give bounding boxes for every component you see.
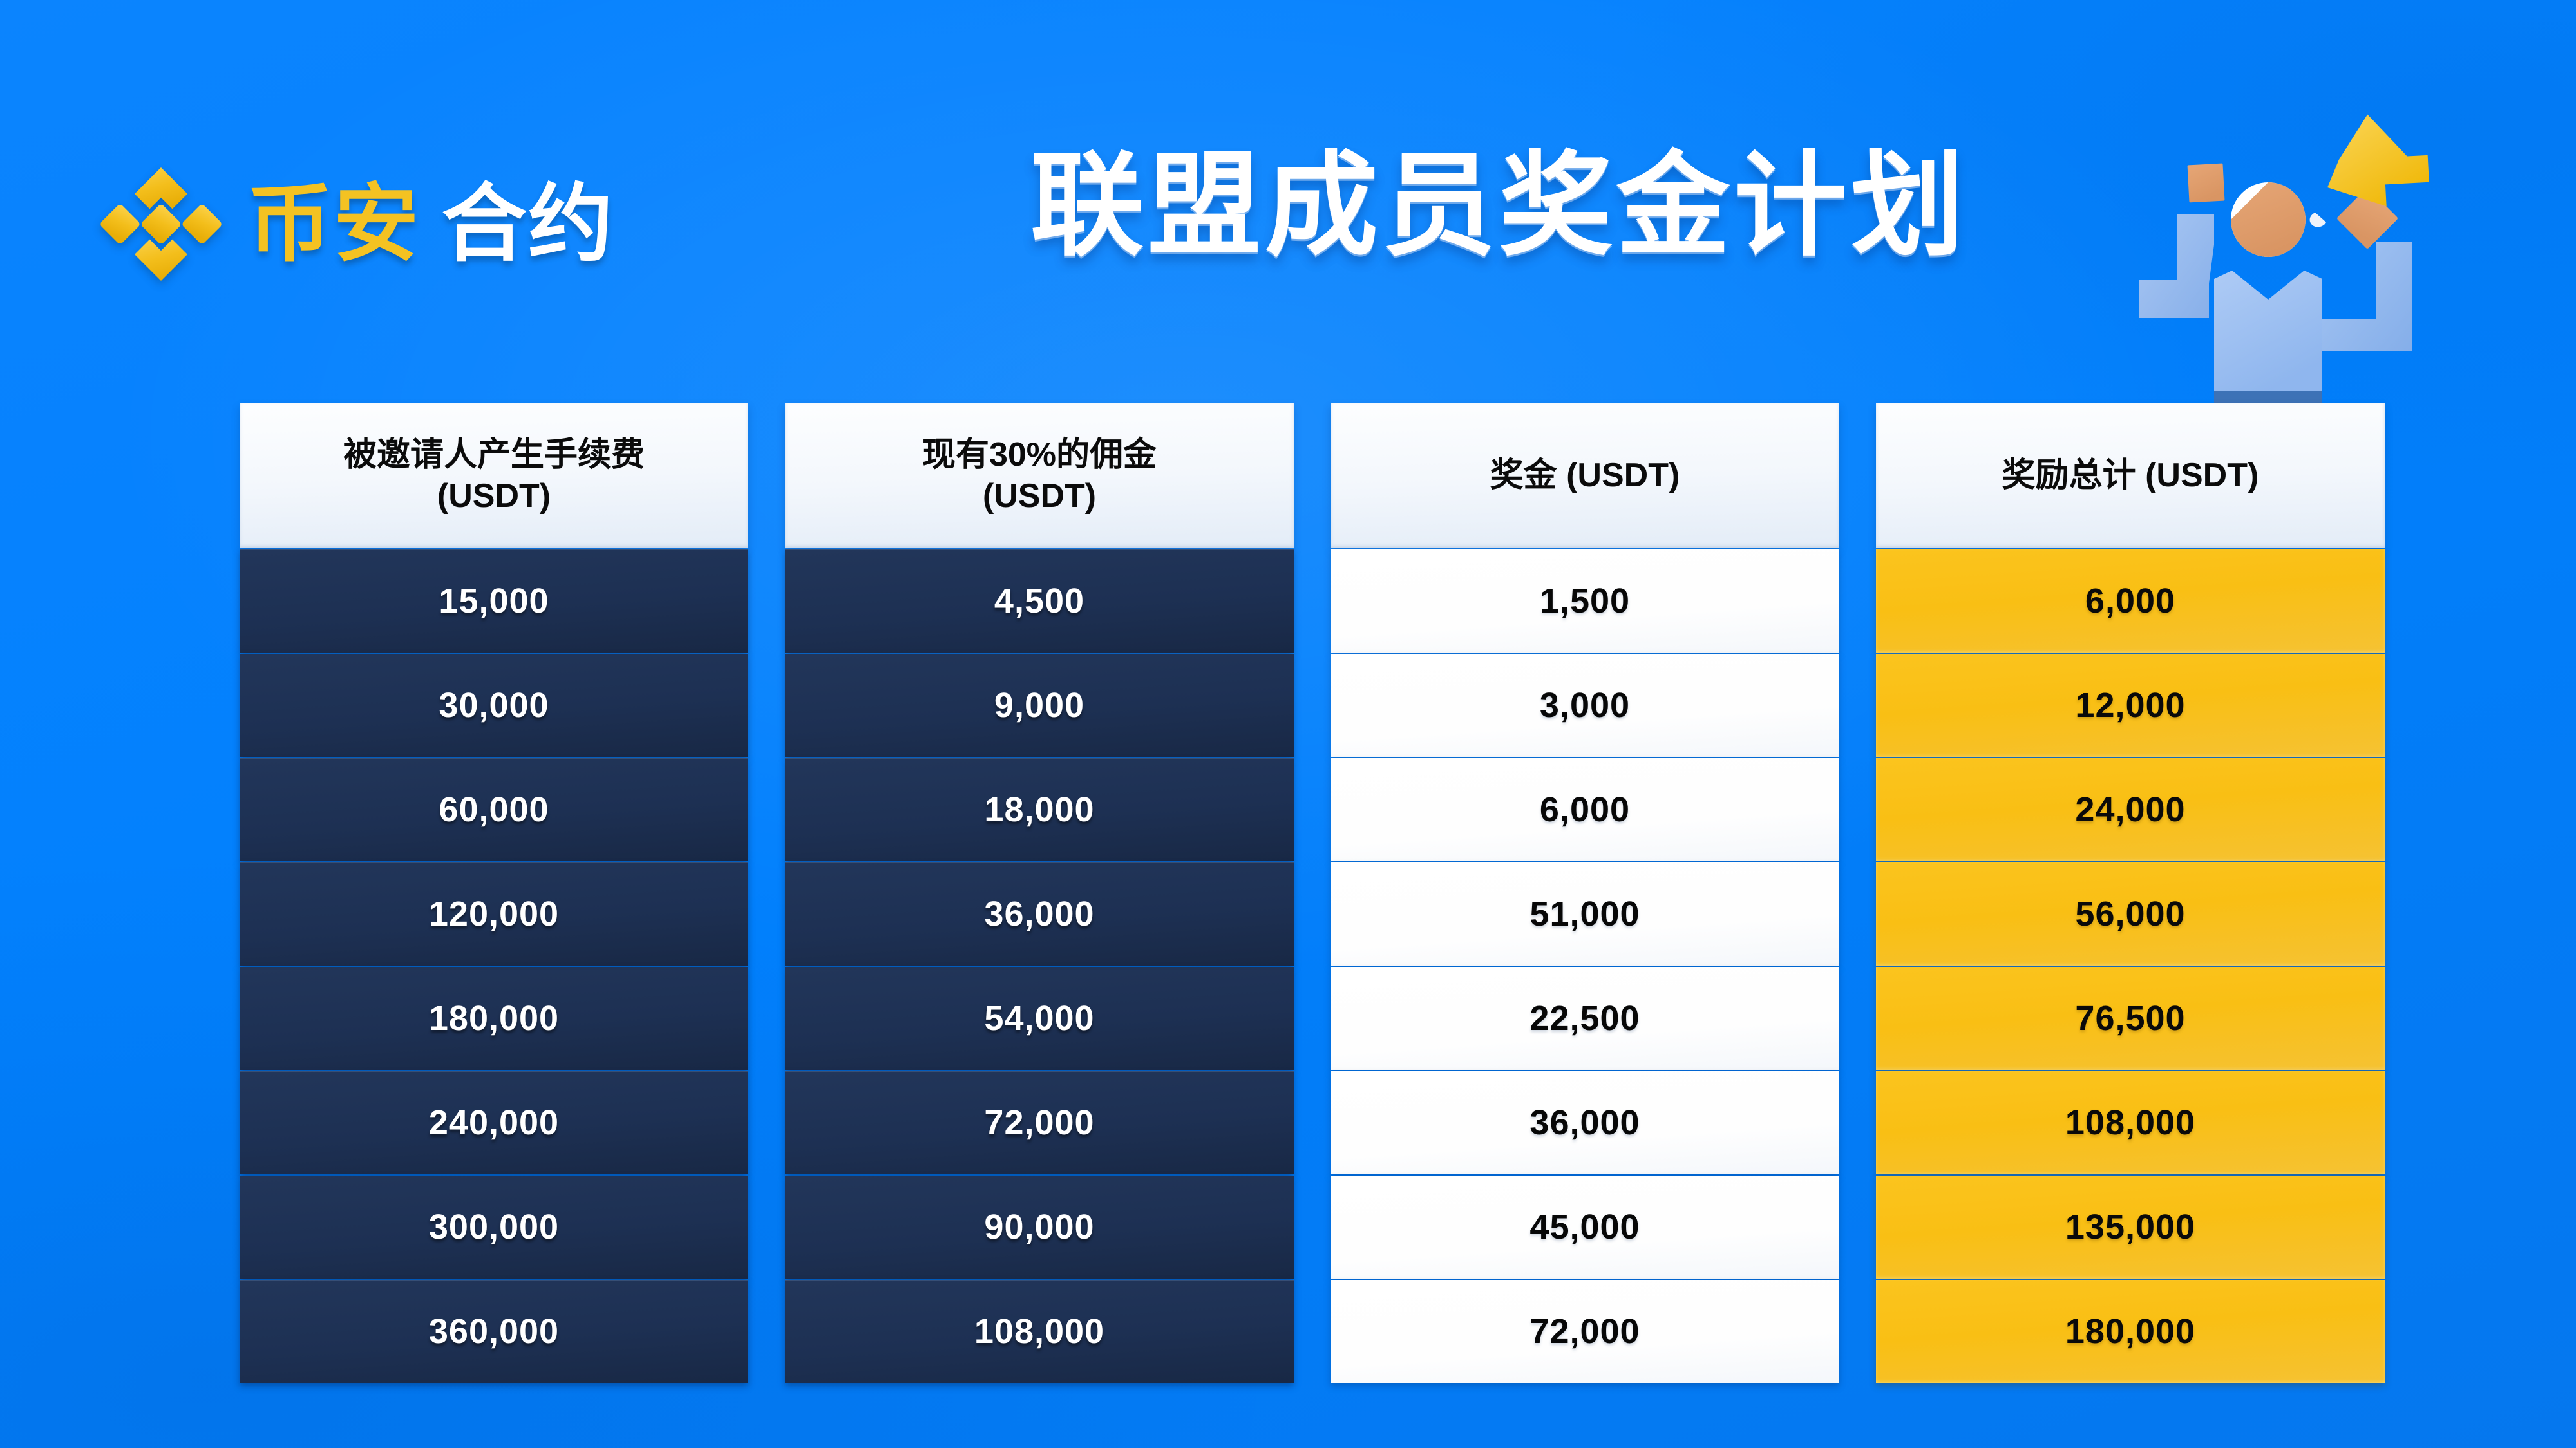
column-header-line1: 奖励总计 (USDT) xyxy=(2002,455,2259,496)
table-cell-fees: 240,000 xyxy=(240,1071,748,1174)
page-header: 币安 合约 联盟成员奖金计划 xyxy=(0,0,2576,386)
column-header-line1: 被邀请人产生手续费 xyxy=(343,435,645,475)
table-cell-total: 24,000 xyxy=(1876,758,2385,861)
table-cell-total: 6,000 xyxy=(1876,549,2385,653)
table-cell-bonus: 22,500 xyxy=(1331,967,1839,1070)
table-cell-bonus: 45,000 xyxy=(1331,1176,1839,1279)
column-header-total-reward: 奖励总计 (USDT) xyxy=(1876,403,2385,548)
table-cell-fees: 60,000 xyxy=(240,758,748,861)
table-cell-bonus: 72,000 xyxy=(1331,1280,1839,1383)
table-cell-bonus: 3,000 xyxy=(1331,654,1839,757)
page-title: 联盟成员奖金计划 xyxy=(1030,149,1968,263)
table-cell-commission: 36,000 xyxy=(785,862,1294,966)
binance-diamond-icon xyxy=(97,160,225,289)
column-header-line1: 奖金 (USDT) xyxy=(1490,455,1680,496)
table-cell-commission: 54,000 xyxy=(785,967,1294,1070)
table-cell-commission: 108,000 xyxy=(785,1280,1294,1383)
table-cell-fees: 300,000 xyxy=(240,1176,748,1279)
table-cell-bonus: 1,500 xyxy=(1331,549,1839,653)
column-header-commission: 现有30%的佣金 (USDT) xyxy=(785,403,1294,548)
table-cell-fees: 180,000 xyxy=(240,967,748,1070)
table-cell-bonus: 51,000 xyxy=(1331,862,1839,966)
table-cell-total: 108,000 xyxy=(1876,1071,2385,1174)
table-cell-total: 76,500 xyxy=(1876,967,2385,1070)
brand-name-secondary: 合约 xyxy=(442,182,614,267)
column-header-line2: (USDT) xyxy=(437,476,551,517)
table-cell-fees: 15,000 xyxy=(240,549,748,653)
table-cell-fees: 120,000 xyxy=(240,862,748,966)
column-header-invitee-fees: 被邀请人产生手续费 (USDT) xyxy=(240,403,748,548)
bonus-plan-table: 被邀请人产生手续费 (USDT) 现有30%的佣金 (USDT) 奖金 (USD… xyxy=(240,403,2384,1398)
table-cell-total: 180,000 xyxy=(1876,1280,2385,1383)
table-cell-commission: 72,000 xyxy=(785,1071,1294,1174)
person-with-megaphone-illustration xyxy=(2106,87,2467,415)
table-cell-total: 135,000 xyxy=(1876,1176,2385,1279)
table-cell-commission: 9,000 xyxy=(785,654,1294,757)
table-cell-commission: 18,000 xyxy=(785,758,1294,861)
table-cell-commission: 90,000 xyxy=(785,1176,1294,1279)
column-header-line1: 现有30%的佣金 xyxy=(922,435,1157,475)
brand-lockup: 币安 合约 xyxy=(97,160,614,289)
table-cell-bonus: 6,000 xyxy=(1331,758,1839,861)
table-cell-total: 12,000 xyxy=(1876,654,2385,757)
column-header-line2: (USDT) xyxy=(983,476,1096,517)
table-cell-fees: 360,000 xyxy=(240,1280,748,1383)
table-cell-commission: 4,500 xyxy=(785,549,1294,653)
table-cell-total: 56,000 xyxy=(1876,862,2385,966)
brand-name-primary: 币安 xyxy=(247,182,420,267)
table-cell-fees: 30,000 xyxy=(240,654,748,757)
column-header-bonus: 奖金 (USDT) xyxy=(1331,403,1839,548)
table-cell-bonus: 36,000 xyxy=(1331,1071,1839,1174)
